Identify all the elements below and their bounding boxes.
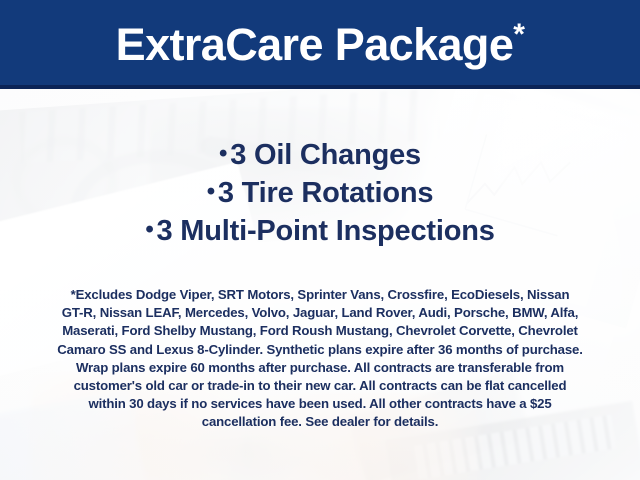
header-band: ExtraCare Package*	[0, 0, 640, 89]
title-asterisk: *	[513, 18, 524, 51]
disclaimer-line: Maserati, Ford Shelby Mustang, Ford Rous…	[30, 322, 610, 340]
extracare-package-banner: ExtraCare Package* •3 Oil Changes •3 Tir…	[0, 0, 640, 480]
benefit-item-multi-point-inspections: •3 Multi-Point Inspections	[18, 212, 622, 250]
benefit-label: 3 Multi-Point Inspections	[157, 215, 495, 247]
disclaimer-line: Wrap plans expire 60 months after purcha…	[30, 359, 610, 377]
benefit-label: 3 Tire Rotations	[218, 177, 433, 209]
page-title-text: ExtraCare Package	[116, 19, 514, 70]
disclaimer-text: *Excludes Dodge Viper, SRT Motors, Sprin…	[30, 286, 610, 432]
disclaimer-line: within 30 days if no services have been …	[30, 395, 610, 413]
bullet-point-icon: •	[145, 216, 153, 243]
benefit-item-oil-changes: •3 Oil Changes	[18, 136, 622, 174]
disclaimer-line: *Excludes Dodge Viper, SRT Motors, Sprin…	[30, 286, 610, 304]
disclaimer-line: Camaro SS and Lexus 8-Cylinder. Syntheti…	[30, 341, 610, 359]
benefit-item-tire-rotations: •3 Tire Rotations	[18, 174, 622, 212]
disclaimer-line: GT-R, Nissan LEAF, Mercedes, Volvo, Jagu…	[30, 304, 610, 322]
bullet-point-icon: •	[207, 178, 215, 205]
benefit-label: 3 Oil Changes	[230, 139, 421, 171]
disclaimer-line: customer's old car or trade-in to their …	[30, 377, 610, 395]
bullet-point-icon: •	[219, 140, 227, 167]
benefits-list: •3 Oil Changes •3 Tire Rotations •3 Mult…	[0, 136, 640, 250]
page-title: ExtraCare Package*	[116, 22, 525, 67]
disclaimer-line: cancellation fee. See dealer for details…	[30, 413, 610, 431]
